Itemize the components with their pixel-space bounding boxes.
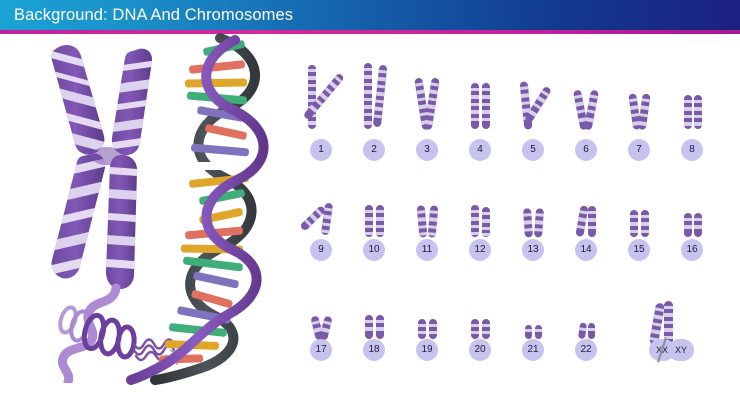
karyotype-label-18: 18 — [363, 339, 385, 361]
karyotype-cell-3[interactable]: 3 — [401, 55, 453, 165]
chromosome-pair-18-graphic — [348, 299, 400, 343]
chromosome-pair-10-graphic — [348, 191, 400, 243]
chromatid-b — [482, 207, 490, 237]
chromatid-b — [694, 95, 702, 129]
chromatid-a — [523, 208, 533, 237]
human-karyotype-grid: 1 — [295, 55, 725, 355]
karyotype-label-12: 12 — [469, 239, 491, 261]
karyotype-label-19: 19 — [416, 339, 438, 361]
karyotype-label-13: 13 — [522, 239, 544, 261]
chromosome-pair-8-graphic — [666, 55, 718, 139]
karyotype-cell-5[interactable]: 5 — [507, 55, 559, 165]
chromatid-b — [588, 206, 596, 237]
chromosome-pair-19-graphic — [401, 299, 453, 343]
chromatid-a — [471, 319, 479, 339]
chromatid-a — [578, 322, 587, 339]
chromosome-pair-4-graphic — [454, 55, 506, 139]
karyotype-cell-9[interactable]: 9 — [295, 187, 347, 267]
chromatid-a — [418, 319, 426, 339]
karyotype-cell-20[interactable]: 20 — [454, 295, 506, 365]
karyotype-label-4: 4 — [469, 139, 491, 161]
chromatid-a — [364, 63, 372, 129]
karyotype-label-22: 22 — [575, 339, 597, 361]
chromosome-pair-12-graphic — [454, 191, 506, 243]
chromatid-b — [534, 208, 544, 237]
karyotype-cell-22[interactable]: 22 — [560, 295, 612, 365]
chromatid-b — [694, 213, 702, 237]
chromosome-pair-13-graphic — [507, 191, 559, 243]
chromatid-a — [471, 205, 479, 237]
chromatid-a — [308, 65, 316, 129]
karyotype-cell-15[interactable]: 15 — [613, 187, 665, 267]
karyotype-label-7: 7 — [628, 139, 650, 161]
karyotype-label-6: 6 — [575, 139, 597, 161]
chromatid-b — [373, 65, 387, 127]
karyotype-cell-17[interactable]: 17 — [295, 295, 347, 365]
chromosome-pair-22-graphic — [560, 299, 612, 343]
dna-double-helix-illustration — [125, 30, 305, 385]
karyotype-cell-12[interactable]: 12 — [454, 187, 506, 267]
karyotype-cell-sex[interactable]: XX XY — [625, 295, 701, 365]
chromatid-b — [376, 315, 384, 339]
karyotype-cell-11[interactable]: 11 — [401, 187, 453, 267]
chromatid-a — [471, 83, 479, 129]
sex-chromosome-labels: XX XY — [632, 339, 694, 363]
chromatid-b — [428, 205, 439, 238]
chromatid-b — [588, 323, 595, 339]
chromatid-b — [638, 93, 651, 130]
chromosome-pair-17-graphic — [295, 299, 347, 343]
chromosome-pair-9-graphic — [295, 191, 347, 243]
karyotype-cell-19[interactable]: 19 — [401, 295, 453, 365]
chromatid-b — [482, 83, 490, 129]
karyotype-label-2: 2 — [363, 139, 385, 161]
chromatid-a — [365, 205, 373, 237]
karyotype-label-14: 14 — [575, 239, 597, 261]
karyotype-cell-21[interactable]: 21 — [507, 295, 559, 365]
karyotype-label-10: 10 — [363, 239, 385, 261]
chromatid-a — [684, 213, 692, 237]
karyotype-label-11: 11 — [416, 239, 438, 261]
karyotype-label-21: 21 — [522, 339, 544, 361]
karyotype-label-8: 8 — [681, 139, 703, 161]
karyotype-cell-8[interactable]: 8 — [666, 55, 718, 165]
chromosome-pair-1-graphic — [295, 55, 347, 139]
chromosome-pair-3-graphic — [401, 55, 453, 139]
chromosome-pair-20-graphic — [454, 299, 506, 343]
chromatid-a — [630, 210, 638, 237]
karyotype-cell-18[interactable]: 18 — [348, 295, 400, 365]
chromosome-pair-21-graphic — [507, 299, 559, 343]
karyotype-label-xy: XY — [668, 339, 694, 361]
chromatid-b — [376, 205, 384, 237]
chromosome-pair-11-graphic — [401, 191, 453, 243]
karyotype-cell-6[interactable]: 6 — [560, 55, 612, 165]
chromatid-a — [520, 81, 533, 130]
karyotype-cell-13[interactable]: 13 — [507, 187, 559, 267]
chromatid-a — [575, 205, 588, 237]
chromatid-b — [429, 319, 437, 339]
karyotype-label-16: 16 — [681, 239, 703, 261]
karyotype-cell-2[interactable]: 2 — [348, 55, 400, 165]
karyotype-label-5: 5 — [522, 139, 544, 161]
chromosome-pair-7-graphic — [613, 55, 665, 139]
karyotype-label-3: 3 — [416, 139, 438, 161]
chromatid-a — [365, 315, 373, 339]
chromosome-pair-5-graphic — [507, 55, 559, 139]
chromosome-pair-14-graphic — [560, 191, 612, 243]
karyotype-cell-4[interactable]: 4 — [454, 55, 506, 165]
chromatid-b — [641, 210, 649, 237]
karyotype-cell-7[interactable]: 7 — [613, 55, 665, 165]
chromatid-a — [525, 325, 532, 339]
karyotype-cell-14[interactable]: 14 — [560, 187, 612, 267]
chromatid-b — [535, 325, 542, 339]
karyotype-label-9: 9 — [310, 239, 332, 261]
chromosome-pair-16-graphic — [666, 191, 718, 243]
karyotype-cell-1[interactable]: 1 — [295, 55, 347, 165]
centromere — [91, 147, 123, 165]
chromosome-pair-2-graphic — [348, 55, 400, 139]
chromatid-a — [684, 95, 692, 129]
karyotype-label-17: 17 — [310, 339, 332, 361]
karyotype-label-1: 1 — [310, 139, 332, 161]
header-accent-line — [0, 30, 740, 34]
chromosome-pair-15-graphic — [613, 191, 665, 243]
karyotype-cell-16[interactable]: 16 — [666, 187, 718, 267]
chromatid-b — [482, 319, 490, 339]
karyotype-label-15: 15 — [628, 239, 650, 261]
chromatid-a — [417, 205, 428, 238]
chromatid-b — [584, 90, 599, 131]
karyotype-cell-10[interactable]: 10 — [348, 187, 400, 267]
slide-canvas: Background: DNA And Chromosomes — [0, 0, 740, 415]
karyotype-label-20: 20 — [469, 339, 491, 361]
chromosome-pair-6-graphic — [560, 55, 612, 139]
page-title: Background: DNA And Chromosomes — [14, 0, 293, 30]
